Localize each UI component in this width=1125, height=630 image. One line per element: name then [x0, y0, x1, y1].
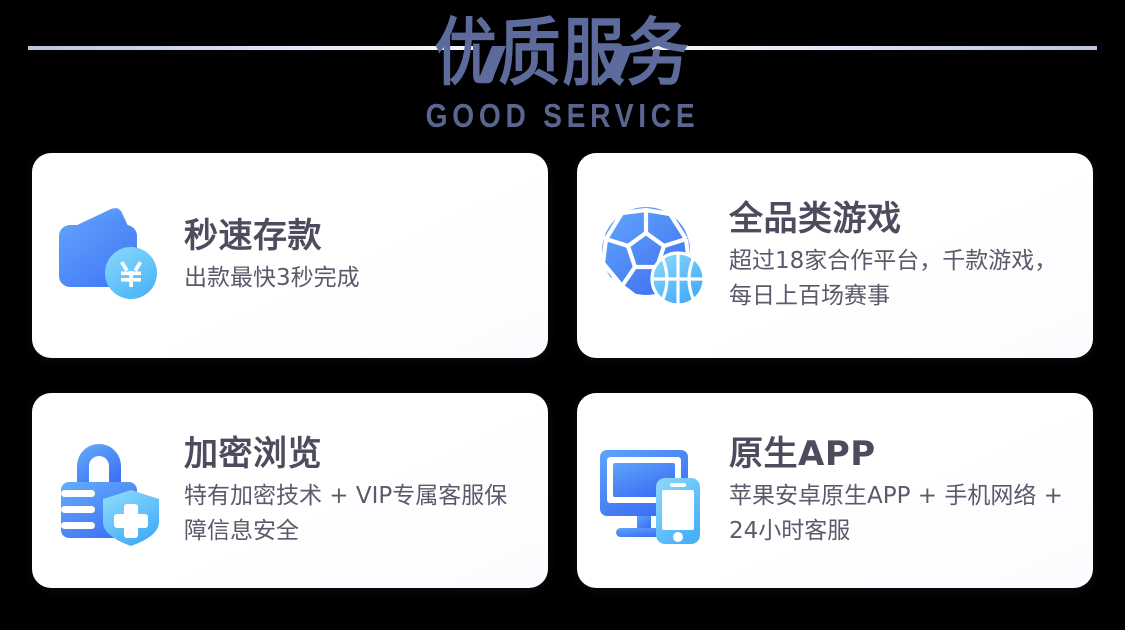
feature-card-description: 特有加密技术 + VIP专属客服保障信息安全 — [184, 479, 514, 549]
page-header: 优质服务 GOOD SERVICE — [0, 0, 1125, 150]
feature-card-icon-slot — [577, 153, 729, 358]
soccer-basketball-icon — [594, 197, 712, 315]
page-subtitle: GOOD SERVICE — [34, 98, 1092, 136]
page-title: 优质服务 — [0, 6, 1125, 100]
feature-card-title: 加密浏览 — [184, 433, 532, 475]
feature-card-text: 秒速存款 出款最快3秒完成 — [184, 215, 548, 296]
feature-card-title: 秒速存款 — [184, 215, 532, 257]
feature-card-deposit[interactable]: 秒速存款 出款最快3秒完成 — [32, 153, 548, 358]
feature-card-grid: 秒速存款 出款最快3秒完成 — [32, 153, 1093, 588]
feature-card-description: 出款最快3秒完成 — [184, 261, 514, 296]
feature-card-icon-slot — [577, 393, 729, 588]
feature-card-description: 超过18家合作平台，千款游戏，每日上百场赛事 — [729, 244, 1063, 314]
feature-card-title: 全品类游戏 — [729, 198, 1077, 240]
feature-card-icon-slot — [32, 393, 184, 588]
feature-card-text: 全品类游戏 超过18家合作平台，千款游戏，每日上百场赛事 — [729, 198, 1093, 314]
feature-card-games[interactable]: 全品类游戏 超过18家合作平台，千款游戏，每日上百场赛事 — [577, 153, 1093, 358]
feature-card-title: 原生APP — [729, 433, 1077, 475]
lock-shield-icon — [49, 432, 167, 550]
monitor-phone-icon — [594, 432, 712, 550]
feature-card-text: 原生APP 苹果安卓原生APP + 手机网络 + 24小时客服 — [729, 433, 1093, 549]
feature-card-encryption[interactable]: 加密浏览 特有加密技术 + VIP专属客服保障信息安全 — [32, 393, 548, 588]
feature-card-native-app[interactable]: 原生APP 苹果安卓原生APP + 手机网络 + 24小时客服 — [577, 393, 1093, 588]
feature-card-description: 苹果安卓原生APP + 手机网络 + 24小时客服 — [729, 479, 1063, 549]
feature-card-icon-slot — [32, 153, 184, 358]
feature-card-text: 加密浏览 特有加密技术 + VIP专属客服保障信息安全 — [184, 433, 548, 549]
wallet-yen-icon — [49, 197, 167, 315]
